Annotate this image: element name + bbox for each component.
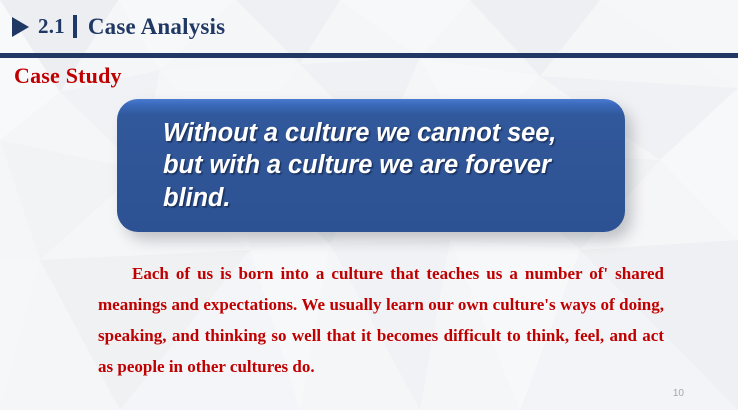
section-heading: Case Study [14,64,122,88]
page-number: 10 [673,389,684,399]
slide-canvas: 2.1 Case Analysis Case Study Without a c… [0,0,738,410]
quote-callout-box: Without a culture we cannot see, but wit… [117,99,625,232]
triangle-right-icon [12,17,29,37]
slide-header: 2.1 Case Analysis [0,0,738,53]
header-section-number: 2.1 [38,16,65,37]
header-divider-bar [73,15,77,38]
body-paragraph: Each of us is born into a culture that t… [98,258,664,382]
quote-text: Without a culture we cannot see, but wit… [163,117,599,215]
header-rule [0,53,738,58]
header-title: Case Analysis [88,15,225,38]
